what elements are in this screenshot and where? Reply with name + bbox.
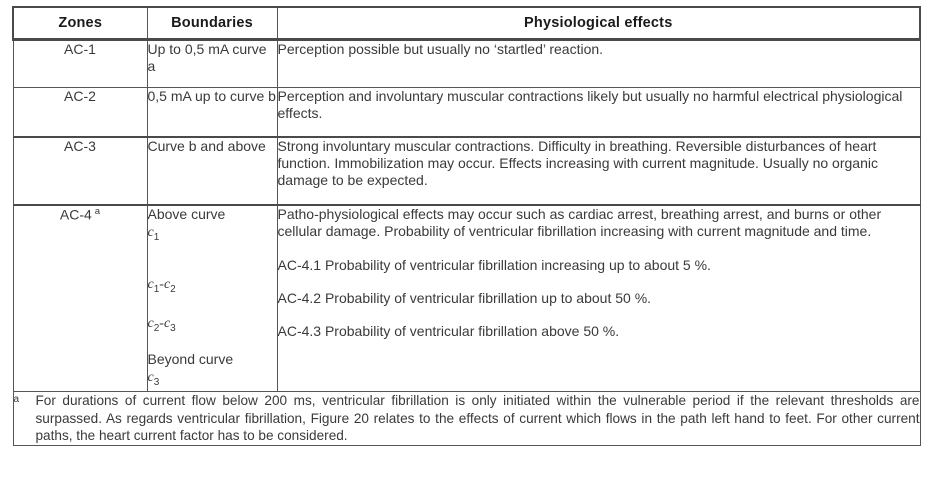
table-row: AC-4a Above curve c1 c1-c2 c2-c3 Beyond … bbox=[13, 205, 920, 392]
electrical-zones-table: Zones Boundaries Physiological effects A… bbox=[12, 6, 921, 446]
variable-c2: c2 bbox=[164, 277, 176, 292]
variable-c2: c2 bbox=[148, 316, 160, 331]
zone-label-ac4: AC-4 bbox=[60, 207, 92, 223]
variable-c1: c1 bbox=[148, 277, 160, 292]
footnote-cell: a For durations of current flow below 20… bbox=[13, 392, 920, 446]
effects-cell-ac3: Strong involuntary muscular contractions… bbox=[277, 137, 920, 205]
effects-cell-ac1: Perception possible but usually no ‘star… bbox=[277, 40, 920, 88]
boundary-range-c2-c3: c2-c3 bbox=[148, 314, 277, 337]
effects-paragraph-ac4-3: AC-4.3 Probability of ventricular fibril… bbox=[278, 323, 920, 340]
footnote-text: For durations of current flow below 200 … bbox=[36, 392, 920, 445]
table-row: AC-3 Curve b and above Strong involuntar… bbox=[13, 137, 920, 205]
effects-paragraph-ac4-main: Patho-physiological effects may occur su… bbox=[278, 206, 920, 240]
zone-cell-ac3: AC-3 bbox=[13, 137, 147, 205]
footnote-marker-ac4: a bbox=[92, 206, 100, 217]
boundary-text: Beyond curve bbox=[148, 351, 234, 367]
table-row: AC-2 0,5 mA up to curve b Perception and… bbox=[13, 88, 920, 138]
variable-c3: c3 bbox=[148, 370, 160, 385]
table-row: AC-1 Up to 0,5 mA curve a Perception pos… bbox=[13, 40, 920, 88]
boundary-above-curve-c1: Above curve c1 bbox=[148, 206, 277, 246]
zone-cell-ac1: AC-1 bbox=[13, 40, 147, 88]
effects-paragraph-ac4-2: AC-4.2 Probability of ventricular fibril… bbox=[278, 290, 920, 307]
header-zones: Zones bbox=[13, 7, 147, 40]
effects-cell-ac4: Patho-physiological effects may occur su… bbox=[277, 205, 920, 392]
footnote-marker: a bbox=[14, 392, 36, 407]
table-header-row: Zones Boundaries Physiological effects bbox=[13, 7, 920, 40]
boundaries-cell-ac4: Above curve c1 c1-c2 c2-c3 Beyond curve … bbox=[147, 205, 277, 392]
effects-cell-ac2: Perception and involuntary muscular cont… bbox=[277, 88, 920, 138]
boundary-beyond-curve-c3: Beyond curve c3 bbox=[148, 351, 277, 391]
boundaries-cell-ac3: Curve b and above bbox=[147, 137, 277, 205]
header-boundaries: Boundaries bbox=[147, 7, 277, 40]
variable-c3: c3 bbox=[164, 316, 176, 331]
effects-paragraph-ac4-1: AC-4.1 Probability of ventricular fibril… bbox=[278, 257, 920, 274]
header-physiological-effects: Physiological effects bbox=[277, 7, 920, 40]
boundary-text: Above curve bbox=[148, 206, 226, 222]
table-page: Zones Boundaries Physiological effects A… bbox=[0, 0, 931, 494]
zone-cell-ac4: AC-4a bbox=[13, 205, 147, 392]
zone-cell-ac2: AC-2 bbox=[13, 88, 147, 138]
boundary-range-c1-c2: c1-c2 bbox=[148, 275, 277, 298]
variable-c1: c1 bbox=[148, 225, 160, 240]
boundaries-cell-ac2: 0,5 mA up to curve b bbox=[147, 88, 277, 138]
table-footnote-row: a For durations of current flow below 20… bbox=[13, 392, 920, 446]
boundaries-cell-ac1: Up to 0,5 mA curve a bbox=[147, 40, 277, 88]
